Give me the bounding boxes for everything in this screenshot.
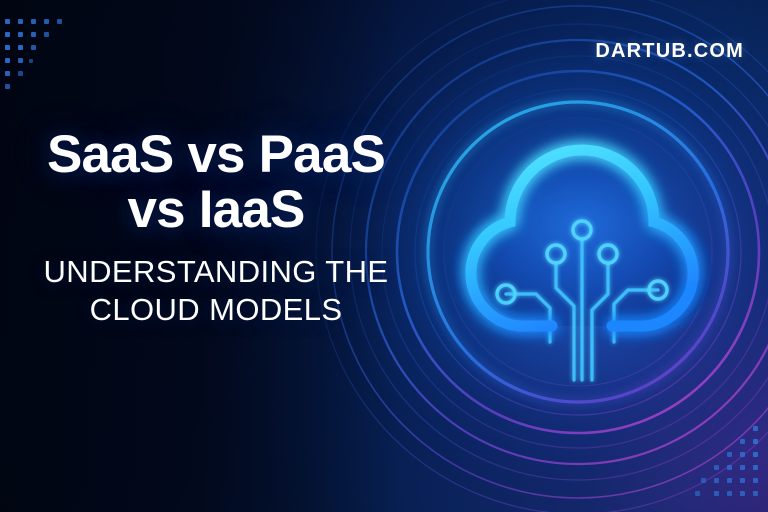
page-subtitle: UNDERSTANDING THE CLOUD MODELS xyxy=(0,253,432,329)
site-logo: DARTUB.COM xyxy=(595,40,744,63)
title-line-2: vs IaaS xyxy=(0,183,432,238)
page-title: SaaS vs PaaS vs IaaS xyxy=(0,128,432,237)
headline-block: SaaS vs PaaS vs IaaS UNDERSTANDING THE C… xyxy=(0,128,432,329)
subtitle-line-2: CLOUD MODELS xyxy=(0,291,432,329)
promo-banner: DARTUB.COM SaaS vs PaaS vs IaaS UNDERSTA… xyxy=(0,0,768,512)
subtitle-line-1: UNDERSTANDING THE xyxy=(44,254,389,289)
title-line-1: SaaS vs PaaS xyxy=(47,125,385,184)
